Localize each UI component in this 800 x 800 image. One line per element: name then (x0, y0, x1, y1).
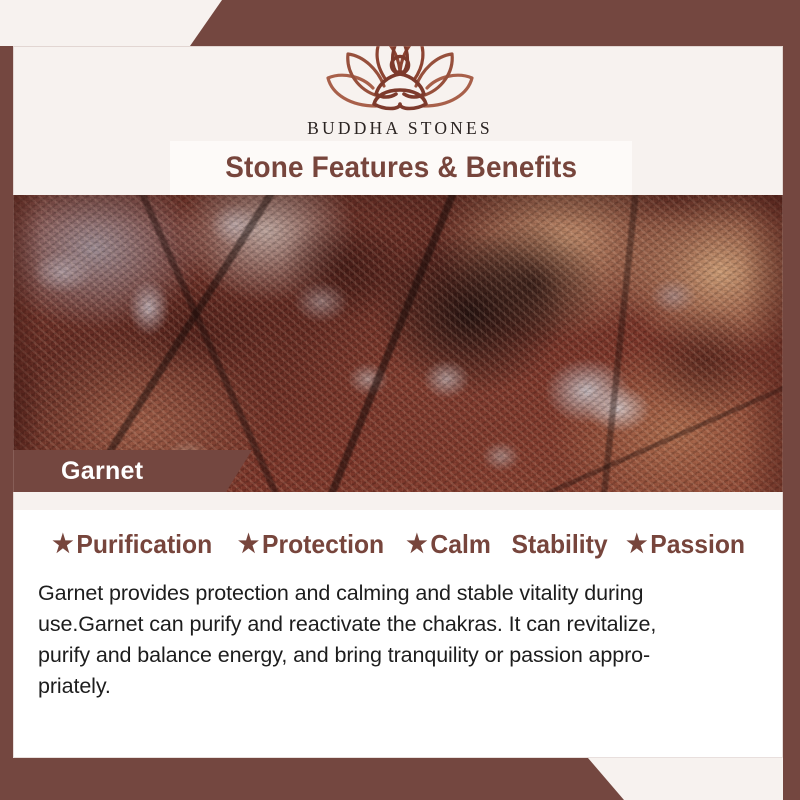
title-card: Stone Features & Benefits (170, 141, 632, 195)
benefit-item-passion: ★ Passion (626, 529, 745, 560)
description-line: purify and balance energy, and bring tra… (38, 640, 750, 671)
benefit-label: Protection (262, 529, 384, 560)
description-line: Garnet provides protection and calming a… (38, 578, 750, 609)
frame-right-bar (783, 0, 800, 800)
star-icon: ★ (626, 532, 647, 557)
star-icon: ★ (238, 532, 259, 557)
star-icon: ★ (406, 532, 427, 557)
page-title: Stone Features & Benefits (225, 151, 577, 185)
benefit-label: Passion (650, 529, 745, 560)
benefits-list: ★ Purification ★ Protection ★ Calm Stabi… (13, 529, 783, 560)
frame-top-left-notch (0, 0, 13, 46)
frame-bottom-bar (0, 758, 800, 800)
frame-left-bar (0, 0, 13, 800)
description-line: use.Garnet can purify and reactivate the… (38, 609, 750, 640)
star-icon: ★ (52, 532, 73, 557)
benefit-item-purification: ★ Purification (52, 529, 212, 560)
brand-name: BUDDHA STONES (0, 118, 800, 139)
stone-name-banner: Garnet (0, 450, 252, 492)
description-line: priately. (38, 671, 750, 702)
benefit-item-protection: ★ Protection (238, 529, 384, 560)
benefit-item-stability: Stability (512, 529, 608, 560)
photo-vignette-layer (0, 195, 783, 492)
stone-benefits-infographic: BUDDHA STONES Stone Features & Benefits … (0, 0, 800, 800)
description-panel-top-tint (13, 492, 783, 510)
benefit-label: Stability (512, 529, 608, 560)
benefit-label: Calm (430, 529, 490, 560)
stone-name-label: Garnet (61, 457, 143, 486)
stone-description: Garnet provides protection and calming a… (38, 578, 750, 702)
stone-photo (0, 195, 783, 492)
benefit-label: Purification (76, 529, 212, 560)
benefit-item-calm: ★ Calm (406, 529, 491, 560)
